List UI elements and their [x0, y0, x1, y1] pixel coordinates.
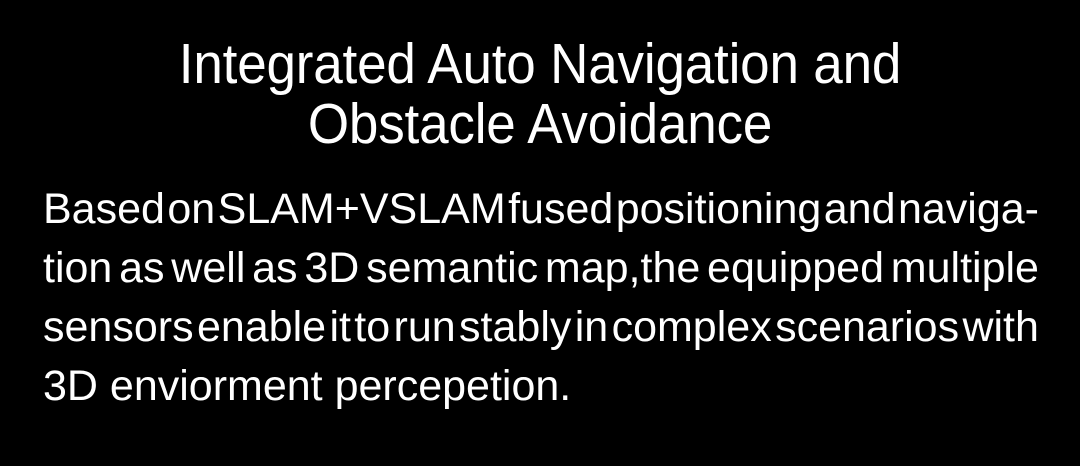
body-word: and: [824, 180, 896, 239]
body-word: fused: [508, 180, 613, 239]
body-word: enable: [197, 298, 326, 357]
body-line-3: sensorsenableittorunstablyincomplexscena…: [43, 298, 1039, 357]
body-paragraph: BasedonSLAM+VSLAMfusedpositioningandnavi…: [43, 180, 1039, 416]
body-line-4: 3D enviorment percepetion.: [43, 357, 1039, 416]
title-line-1: Integrated Auto Navigation and: [38, 34, 1042, 94]
body-word: positioning: [616, 180, 822, 239]
body-word: multiple: [891, 239, 1039, 298]
page-title: Integrated Auto Navigation and Obstacle …: [0, 34, 1080, 154]
slide-root: Integrated Auto Navigation and Obstacle …: [0, 0, 1080, 466]
body-word: semantic: [366, 239, 538, 298]
body-word: with: [962, 298, 1038, 357]
body-word: in: [575, 298, 608, 357]
body-word: well: [171, 239, 245, 298]
body-word: as: [252, 239, 297, 298]
body-word: run: [394, 298, 456, 357]
title-line-2: Obstacle Avoidance: [38, 94, 1042, 154]
body-word: equipped: [707, 239, 884, 298]
body-word: SLAM+VSLAM: [218, 180, 506, 239]
body-word: map,the: [545, 239, 700, 298]
body-word: on: [167, 180, 215, 239]
body-word: complex: [612, 298, 772, 357]
body-line-1: BasedonSLAM+VSLAMfusedpositioningandnavi…: [43, 180, 1039, 239]
body-word: Based: [43, 180, 165, 239]
body-word: it: [329, 298, 351, 357]
body-word: naviga-: [898, 180, 1039, 239]
body-word: sensors: [43, 298, 194, 357]
body-word: as: [119, 239, 164, 298]
body-line-2: tionaswellas3Dsemanticmap,theequippedmul…: [43, 239, 1039, 298]
body-word: 3D: [304, 239, 359, 298]
body-word: to: [354, 298, 390, 357]
body-word: scenarios: [775, 298, 959, 357]
body-word: tion: [43, 239, 112, 298]
body-word: stably: [459, 298, 571, 357]
